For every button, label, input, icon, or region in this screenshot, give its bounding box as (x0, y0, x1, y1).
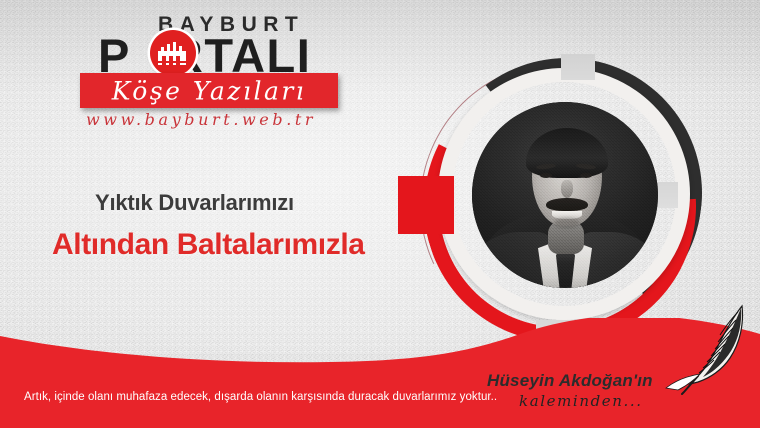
author-from-pen-text: kaleminden... (519, 392, 643, 410)
logo-portali-text: PORTALI (98, 32, 311, 79)
article-title: Altından Baltalarımızla (52, 228, 365, 262)
article-kicker: Yıktık Duvarlarımızı (95, 190, 294, 216)
section-banner-label: Köşe Yazıları (112, 78, 307, 103)
quill-pen-icon (664, 302, 760, 398)
ring-notch-top (561, 54, 595, 80)
author-name: Hüseyin Akdoğan'ın (487, 371, 653, 391)
site-url-text[interactable]: www.bayburt.web.tr (86, 110, 316, 129)
section-banner: Köşe Yazıları (80, 73, 338, 108)
article-excerpt: Artık, içinde olanı muhafaza edecek, dış… (24, 391, 497, 403)
ring-red-chip (398, 176, 454, 234)
photo-grain-overlay (472, 102, 658, 288)
author-photo (472, 102, 658, 288)
castle-icon (150, 30, 196, 76)
kose-yazilari-banner: BAYBURT PORTALI Köşe Yazıları www.baybur… (0, 0, 760, 428)
